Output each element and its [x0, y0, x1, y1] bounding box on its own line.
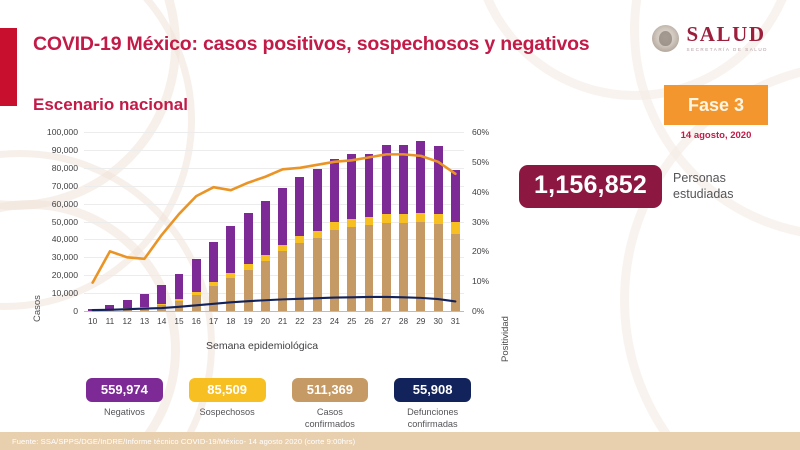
legend-item: 55,908Defunciones confirmadas — [394, 378, 471, 430]
chart-line — [93, 154, 456, 282]
legend-caption: Defunciones confirmadas — [394, 407, 471, 430]
studied-people-label-line1: Personas — [673, 171, 733, 187]
fase-badge: Fase 3 — [664, 85, 768, 125]
slide-root: COVID-19 México: casos positivos, sospec… — [0, 0, 800, 450]
report-date: 14 agosto, 2020 — [664, 130, 768, 141]
footer: Fuente: SSA/SPPS/DGE/InDRE/Informe técni… — [0, 432, 800, 450]
legend-value: 559,974 — [86, 378, 163, 402]
legend-item: 85,509Sospechosos — [189, 378, 266, 430]
chart-line-overlay — [26, 126, 526, 351]
legend: 559,974Negativos85,509Sospechosos511,369… — [86, 378, 471, 430]
legend-value: 511,369 — [292, 378, 369, 402]
studied-people-label-line2: estudiadas — [673, 187, 733, 203]
accent-bar — [0, 28, 17, 106]
footer-source: Fuente: SSA/SPPS/DGE/InDRE/Informe técni… — [0, 437, 355, 446]
studied-people-value: 1,156,852 — [519, 165, 662, 208]
chart-line — [93, 297, 456, 310]
page-title: COVID-19 México: casos positivos, sospec… — [33, 33, 589, 56]
fase-badge-label: Fase 3 — [688, 95, 744, 116]
eagle-emblem-icon — [652, 25, 679, 52]
legend-item: 511,369Casos confirmados — [292, 378, 369, 430]
salud-logo-subtext: SECRETARÍA DE SALUD — [686, 48, 768, 53]
legend-value: 55,908 — [394, 378, 471, 402]
legend-caption: Casos confirmados — [292, 407, 369, 430]
page-subtitle: Escenario nacional — [33, 95, 188, 115]
legend-value: 85,509 — [189, 378, 266, 402]
legend-caption: Negativos — [86, 407, 163, 419]
covid-weekly-chart: Casos Positividad Semana epidemiológica … — [26, 126, 526, 351]
salud-logo: SALUD SECRETARÍA DE SALUD — [652, 24, 768, 53]
legend-item: 559,974Negativos — [86, 378, 163, 430]
studied-people-stat: 1,156,852 Personas estudiadas — [519, 165, 734, 208]
salud-logo-text: SALUD — [686, 24, 768, 45]
legend-caption: Sospechosos — [189, 407, 266, 419]
studied-people-label: Personas estudiadas — [673, 171, 733, 202]
